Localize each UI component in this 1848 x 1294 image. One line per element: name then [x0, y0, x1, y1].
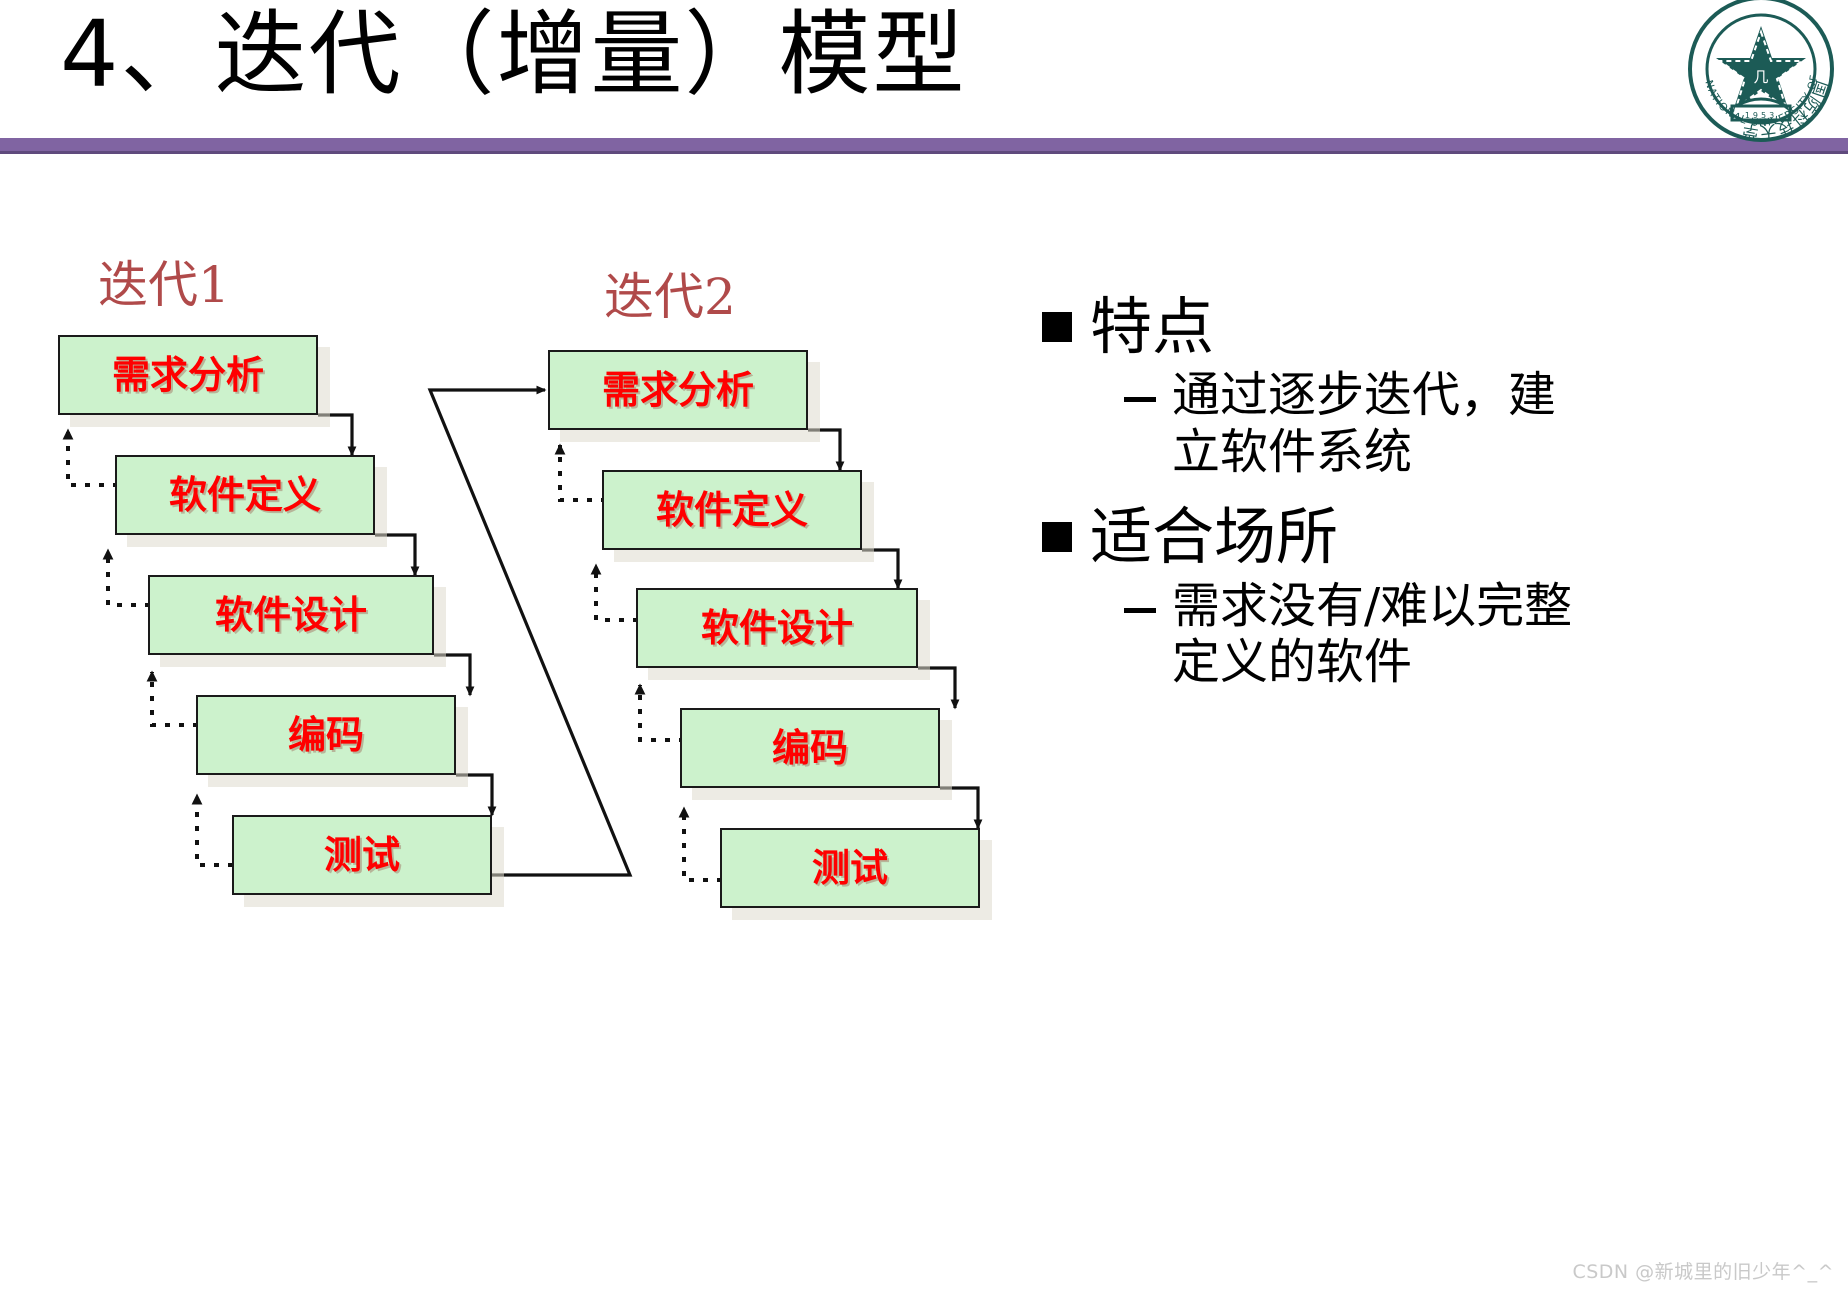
square-bullet-icon: [1042, 312, 1072, 342]
bullet-characteristics: 特点: [1032, 290, 1848, 363]
iteration-label-1: 迭代1: [98, 260, 230, 310]
bullet-panel: 特点 通过逐步迭代，建立软件系统 适合场所 需求没有/难以完整定义的软件: [1032, 290, 1848, 711]
stage-box-testing-1[interactable]: 测试: [232, 815, 492, 895]
square-bullet-icon: [1042, 522, 1072, 552]
nudt-seal-logo-icon: 几 1953 NATIONAL UNIVERSITY OF DEFENSE TE…: [1686, 0, 1836, 144]
sub-bullet-text: 需求没有/难以完整定义的软件: [1172, 578, 1592, 691]
bullet-heading: 特点: [1090, 290, 1214, 363]
slide-header: 4、迭代（增量）模型 几 1953 NATIONAL UNIVERSITY OF…: [0, 0, 1848, 148]
stage-label: 需求分析: [602, 371, 754, 409]
stage-label: 软件设计: [701, 609, 853, 647]
sub-bullet-characteristics-1: 通过逐步迭代，建立软件系统: [1124, 367, 1848, 480]
bullet-suitable-scenarios: 适合场所: [1032, 500, 1848, 573]
iteration-label-2: 迭代2: [604, 272, 736, 322]
bullet-heading: 适合场所: [1090, 500, 1338, 573]
stage-box-coding-2[interactable]: 编码: [680, 708, 940, 788]
stage-box-sw-design-2[interactable]: 软件设计: [636, 588, 918, 668]
svg-text:几: 几: [1753, 68, 1768, 86]
stage-box-sw-design-1[interactable]: 软件设计: [148, 575, 434, 655]
stage-box-coding-1[interactable]: 编码: [196, 695, 456, 775]
stage-label: 测试: [324, 836, 400, 874]
stage-label: 软件设计: [215, 596, 367, 634]
stage-label: 编码: [288, 716, 364, 754]
stage-label: 软件定义: [656, 491, 808, 529]
stage-label: 需求分析: [112, 356, 264, 394]
sub-bullet-suitable-scenarios-1: 需求没有/难以完整定义的软件: [1124, 578, 1848, 691]
iterative-model-diagram: 迭代1 需求分析 软件定义 软件设计 编码 测试 迭代2 需求分析 软件定义 软…: [0, 150, 1030, 1150]
stage-box-req-analysis-2[interactable]: 需求分析: [548, 350, 808, 430]
stage-label: 编码: [772, 729, 848, 767]
stage-label: 测试: [812, 849, 888, 887]
stage-box-req-analysis-1[interactable]: 需求分析: [58, 335, 318, 415]
stage-box-sw-definition-2[interactable]: 软件定义: [602, 470, 862, 550]
dash-bullet-icon: [1124, 608, 1156, 613]
dash-bullet-icon: [1124, 397, 1156, 402]
stage-box-sw-definition-1[interactable]: 软件定义: [115, 455, 375, 535]
stage-label: 软件定义: [169, 476, 321, 514]
page-title: 4、迭代（增量）模型: [60, 4, 967, 105]
csdn-watermark: CSDN @新城里的旧少年^_^: [1572, 1257, 1834, 1284]
sub-bullet-text: 通过逐步迭代，建立软件系统: [1172, 367, 1592, 480]
stage-box-testing-2[interactable]: 测试: [720, 828, 980, 908]
